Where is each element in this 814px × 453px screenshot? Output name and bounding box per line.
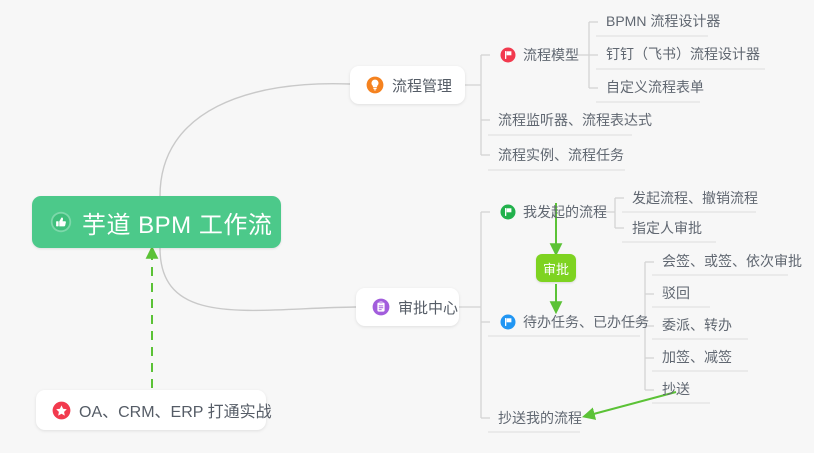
badge-label: 审批 [543,259,569,278]
node-label: 抄送我的流程 [498,408,582,428]
clipboard-icon [372,298,390,316]
node-label: 会签、或签、依次审批 [662,251,802,271]
node-process-model[interactable]: 流程模型 [490,40,589,70]
node-label: 流程监听器、流程表达式 [498,110,652,130]
edge-process-management-bracket [465,55,481,155]
node-add-remove-sign[interactable]: 加签、减签 [652,342,742,372]
edge-root-to-approval-center [160,248,356,310]
node-approval-center[interactable]: 审批中心 [356,288,459,326]
lightbulb-icon [366,76,384,94]
node-label: OA、CRM、ERP 打通实战 [79,398,272,422]
edge-approval-center-child-stubs [481,212,490,418]
node-custom-process-form[interactable]: 自定义流程表单 [596,72,714,102]
node-label: 待办任务、已办任务 [523,312,649,332]
edge-approval-center-bracket [459,212,481,418]
star-icon [52,401,71,420]
node-label: 抄送 [662,379,690,399]
node-label: 指定人审批 [632,218,702,238]
thumbs-up-icon [50,211,72,233]
node-reject[interactable]: 驳回 [652,278,700,308]
approval-badge[interactable]: 审批 [536,254,576,282]
node-label: 流程管理 [392,75,452,96]
root-node[interactable]: 芋道 BPM 工作流 [32,196,281,248]
node-label: 审批中心 [398,297,458,318]
root-label: 芋道 BPM 工作流 [82,205,272,240]
node-designated-approver[interactable]: 指定人审批 [622,213,712,243]
flag-icon [500,314,516,330]
node-label: 委派、转办 [662,315,732,335]
node-process-management[interactable]: 流程管理 [350,66,465,104]
node-label: 流程实例、流程任务 [498,145,624,165]
node-label: 流程模型 [523,45,579,65]
node-label: 自定义流程表单 [606,77,704,97]
node-process-listener-expression[interactable]: 流程监听器、流程表达式 [488,105,662,135]
node-label: 加签、减签 [662,347,732,367]
node-label: 驳回 [662,283,690,303]
node-my-initiated-processes[interactable]: 我发起的流程 [490,197,617,227]
node-label: 发起流程、撤销流程 [632,188,758,208]
mindmap-canvas: 芋道 BPM 工作流 流程管理 审批中心 [0,0,814,453]
node-bpmn-designer[interactable]: BPMN 流程设计器 [596,6,730,36]
node-oa-crm-erp[interactable]: OA、CRM、ERP 打通实战 [36,390,266,430]
node-dingtalk-feishu-designer[interactable]: 钉钉（飞书）流程设计器 [596,39,770,69]
node-label: 钉钉（飞书）流程设计器 [606,44,760,64]
node-label: 我发起的流程 [523,202,607,222]
node-delegate-transfer[interactable]: 委派、转办 [652,310,742,340]
node-label: BPMN 流程设计器 [606,11,720,31]
node-todo-done-tasks[interactable]: 待办任务、已办任务 [490,307,659,337]
node-start-cancel-process[interactable]: 发起流程、撤销流程 [622,183,768,213]
node-countersign-orsign-sequential[interactable]: 会签、或签、依次审批 [652,246,812,276]
node-cc[interactable]: 抄送 [652,374,700,404]
edge-root-to-process-management [160,84,350,196]
node-cc-to-me-processes[interactable]: 抄送我的流程 [488,403,592,433]
flag-icon [500,204,516,220]
node-process-instance-task[interactable]: 流程实例、流程任务 [488,140,634,170]
flag-icon [500,47,516,63]
